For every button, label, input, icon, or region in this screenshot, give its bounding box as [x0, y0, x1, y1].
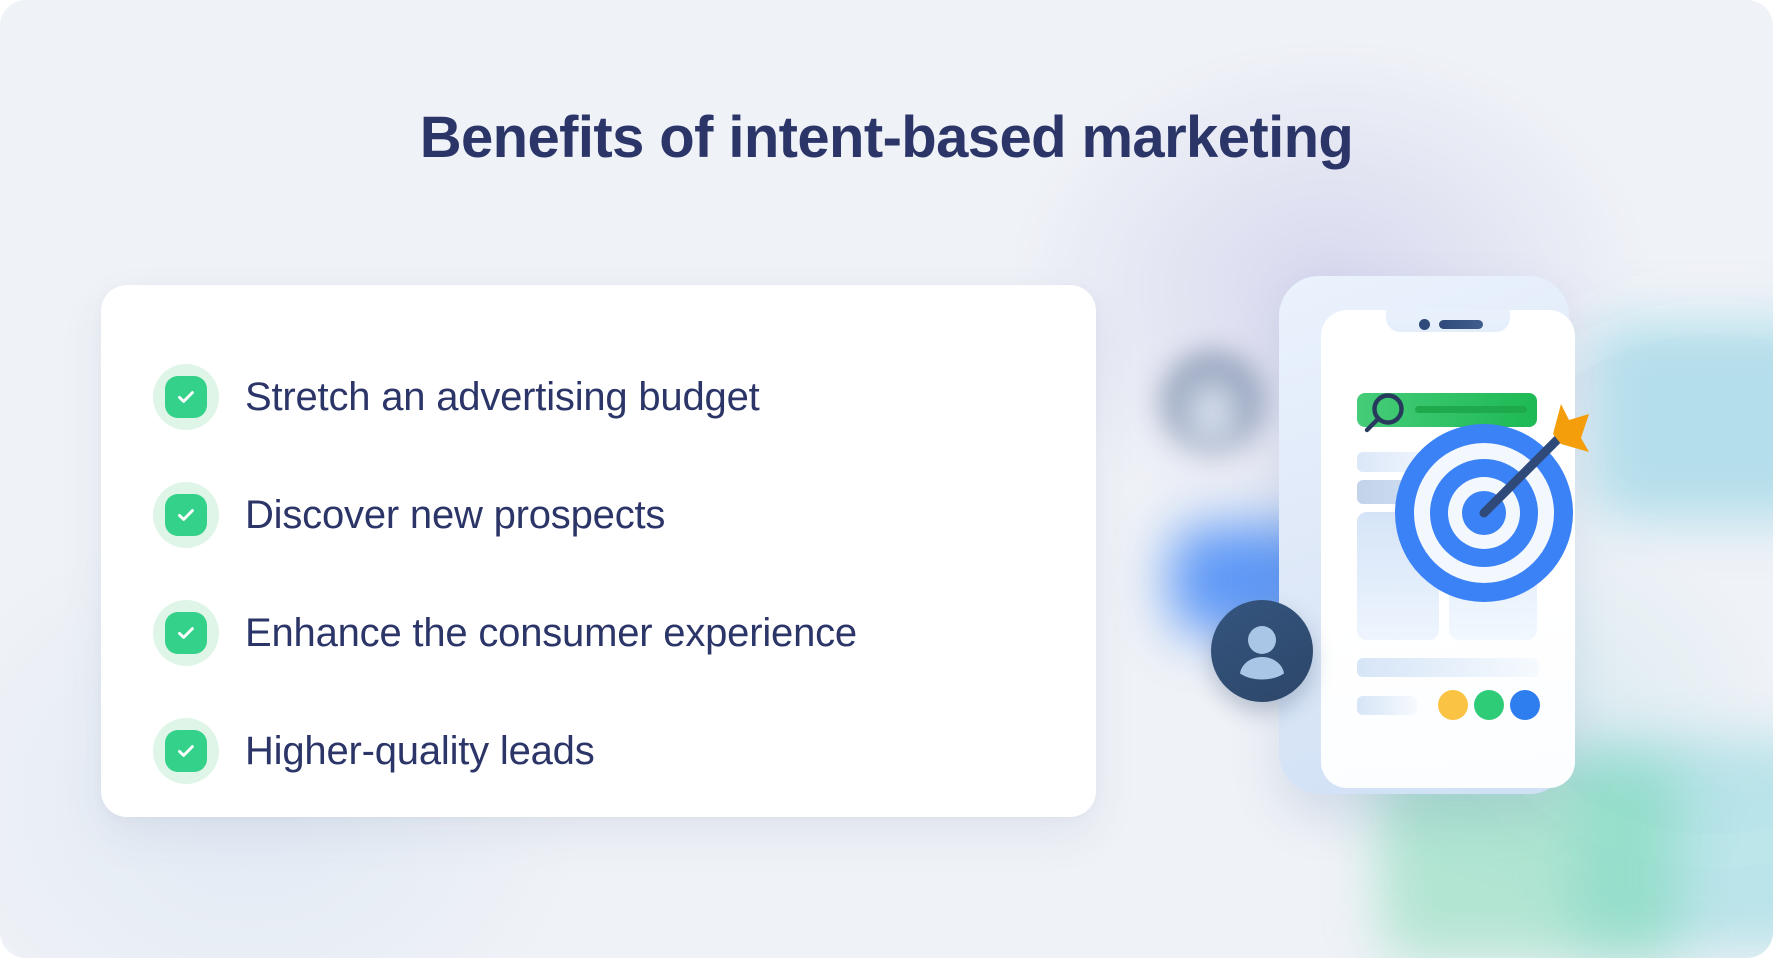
page-title: Benefits of intent-based marketing — [0, 104, 1773, 171]
status-dot-green — [1474, 690, 1504, 720]
list-item-label: Stretch an advertising budget — [245, 375, 760, 419]
dart-arrow — [1393, 382, 1623, 562]
check-icon — [165, 376, 207, 418]
list-item: Enhance the consumer experience — [153, 587, 1056, 679]
illustration-banner: Benefits of intent-based marketing Stret… — [0, 0, 1773, 958]
user-avatar-badge — [1211, 600, 1313, 702]
content-skeleton-line — [1357, 658, 1539, 677]
check-icon — [165, 494, 207, 536]
speaker-bar-icon — [1439, 320, 1483, 329]
check-icon — [165, 730, 207, 772]
check-icon-wrapper — [153, 600, 219, 666]
check-icon — [165, 612, 207, 654]
benefits-list: Stretch an advertising budget Discover n… — [153, 351, 1056, 797]
content-skeleton-line — [1357, 696, 1417, 715]
background-blob-avatar-ghost — [1160, 350, 1265, 455]
check-icon-wrapper — [153, 718, 219, 784]
status-dot-blue — [1510, 690, 1540, 720]
list-item-label: Enhance the consumer experience — [245, 611, 857, 655]
list-item: Discover new prospects — [153, 469, 1056, 561]
benefits-card: Stretch an advertising budget Discover n… — [101, 285, 1096, 817]
camera-dot-icon — [1419, 319, 1430, 330]
status-dot-yellow — [1438, 690, 1468, 720]
intent-marketing-illustration — [1255, 262, 1563, 790]
check-icon-wrapper — [153, 364, 219, 430]
list-item: Stretch an advertising budget — [153, 351, 1056, 443]
list-item-label: Discover new prospects — [245, 493, 665, 537]
check-icon-wrapper — [153, 482, 219, 548]
person-icon — [1235, 622, 1289, 680]
list-item-label: Higher-quality leads — [245, 729, 595, 773]
list-item: Higher-quality leads — [153, 705, 1056, 797]
